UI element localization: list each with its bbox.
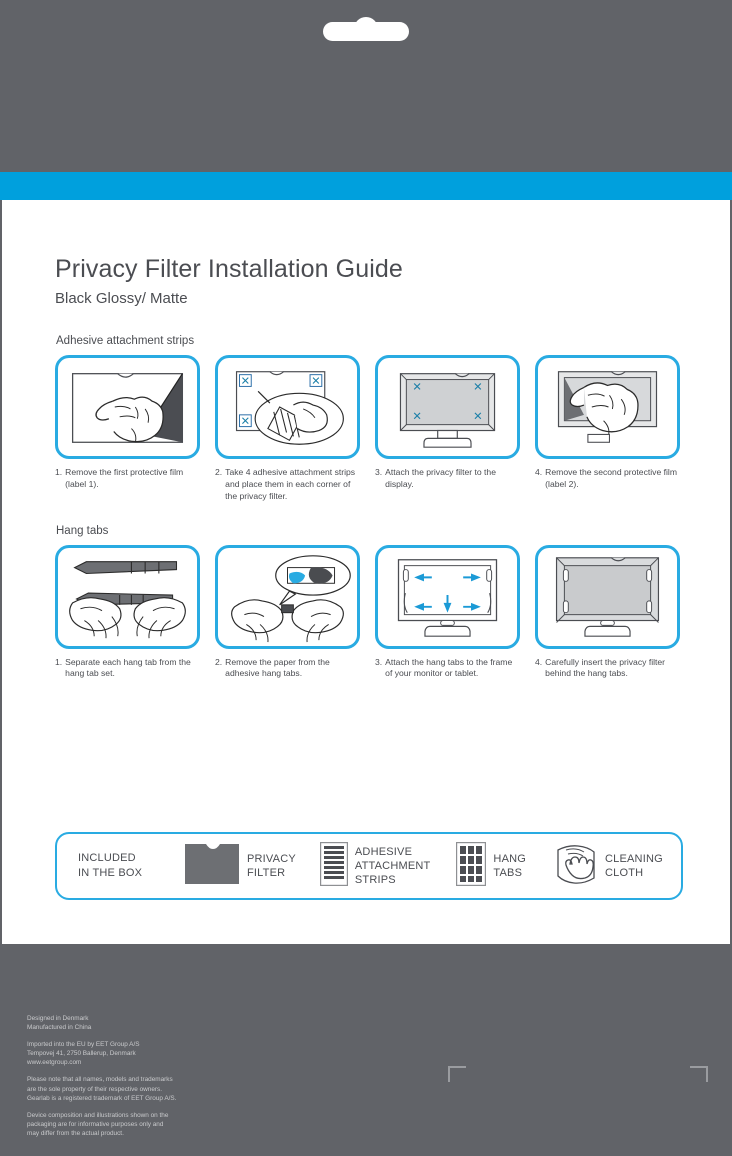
box-item-adhesive-strips: ADHESIVE ATTACHMENT STRIPS (320, 842, 431, 891)
step-caption: 3. Attach the hang tabs to the frame of … (375, 657, 520, 681)
step-cell: 1. Remove the first protective film (lab… (55, 355, 200, 503)
step-text: Attach the hang tabs to the frame of you… (385, 657, 520, 681)
cleaning-cloth-label-line2: CLOTH (605, 866, 663, 880)
crop-mark-left (448, 1066, 466, 1082)
package-card: Privacy Filter Installation Guide Black … (0, 0, 732, 1156)
hang-tabs-label-line1: HANG (493, 852, 526, 866)
cleaning-cloth-icon (554, 842, 598, 891)
disclaimer-notice: Device composition and illustrations sho… (27, 1111, 287, 1138)
privacy-filter-label-line1: PRIVACY (247, 852, 296, 866)
step-text: Carefully insert the privacy filter behi… (545, 657, 680, 681)
step-caption: 2. Remove the paper from the adhesive ha… (215, 657, 360, 681)
hands-separating-hang-tab-icon (55, 545, 200, 649)
adhesive-strips-label-line3: STRIPS (355, 873, 431, 887)
hang-tabs-label-line2: TABS (493, 866, 526, 880)
step-caption: 1. Remove the first protective film (lab… (55, 467, 200, 491)
cleaning-cloth-label-line1: CLEANING (605, 852, 663, 866)
blue-accent-band (0, 172, 732, 200)
trademark-line3: Gearlab is a registered trademark of EET… (27, 1094, 287, 1103)
section-label-adhesive-strips: Adhesive attachment strips (56, 335, 683, 347)
step-cell: 3. Attach the hang tabs to the frame of … (375, 545, 520, 681)
step-caption: 3. Attach the privacy filter to the disp… (375, 467, 520, 491)
hand-peeling-film-icon (55, 355, 200, 459)
origin-line1: Designed in Denmark (27, 1014, 287, 1023)
adhesive-strips-label-line2: ATTACHMENT (355, 859, 431, 873)
step-cell: 4. Remove the second protective film (la… (535, 355, 680, 503)
box-item-hang-tabs: HANG TABS (456, 842, 526, 891)
included-in-the-box-title: INCLUDED IN THE BOX (78, 851, 178, 881)
disclaimer-line1: Device composition and illustrations sho… (27, 1111, 287, 1120)
adhesive-strips-label-line1: ADHESIVE (355, 845, 431, 859)
included-in-the-box-bar: INCLUDED IN THE BOX PRIVACY FILTER (55, 832, 683, 900)
step-cell: 4. Carefully insert the privacy filter b… (535, 545, 680, 681)
page-subtitle: Black Glossy/ Matte (55, 290, 683, 307)
step-number: 1. (55, 657, 62, 681)
step-text: Remove the first protective film (label … (65, 467, 200, 491)
step-cell: 2. Take 4 adhesive attachment strips and… (215, 355, 360, 503)
disclaimer-line3: may differ from the actual product. (27, 1129, 287, 1138)
disclaimer-line2: packaging are for informative purposes o… (27, 1120, 287, 1129)
step-caption: 4. Carefully insert the privacy filter b… (535, 657, 680, 681)
step-text: Attach the privacy filter to the display… (385, 467, 520, 491)
origin-line2: Manufactured in China (27, 1023, 287, 1032)
box-item-privacy-filter: PRIVACY FILTER (184, 843, 296, 890)
step-number: 2. (215, 657, 222, 681)
step-cell: 3. Attach the privacy filter to the disp… (375, 355, 520, 503)
instruction-panel: Privacy Filter Installation Guide Black … (2, 200, 730, 944)
trademark-line1: Please note that all names, models and t… (27, 1075, 287, 1084)
step-number: 3. (375, 657, 382, 681)
privacy-filter-label-line2: FILTER (247, 866, 296, 880)
step-number: 4. (535, 657, 542, 681)
step-number: 4. (535, 467, 542, 491)
instruction-content: Privacy Filter Installation Guide Black … (55, 255, 683, 680)
steps-row-hang-tabs: 1. Separate each hang tab from the hang … (55, 545, 683, 681)
step-cell: 1. Separate each hang tab from the hang … (55, 545, 200, 681)
importer-info: Imported into the EU by EET Group A/S Te… (27, 1040, 287, 1067)
included-title-line1: INCLUDED (78, 851, 178, 866)
box-item-label: ADHESIVE ATTACHMENT STRIPS (355, 845, 431, 888)
step-number: 3. (375, 467, 382, 491)
page-title: Privacy Filter Installation Guide (55, 255, 683, 284)
steps-row-adhesive: 1. Remove the first protective film (lab… (55, 355, 683, 503)
trademark-notice: Please note that all names, models and t… (27, 1075, 287, 1102)
step-number: 2. (215, 467, 222, 503)
step-text: Separate each hang tab from the hang tab… (65, 657, 200, 681)
box-item-cleaning-cloth: CLEANING CLOTH (554, 842, 663, 891)
crop-mark-right (690, 1066, 708, 1082)
footer-fine-print: Designed in Denmark Manufactured in Chin… (27, 1014, 287, 1138)
monitor-hang-tab-arrows-icon (375, 545, 520, 649)
step-text: Take 4 adhesive attachment strips and pl… (225, 467, 360, 503)
importer-website: www.eetgroup.com (27, 1058, 287, 1067)
hang-tabs-icon (456, 842, 486, 891)
importer-line1: Imported into the EU by EET Group A/S (27, 1040, 287, 1049)
strips-in-corners-callout-icon (215, 355, 360, 459)
monitor-attach-filter-icon (375, 355, 520, 459)
step-number: 1. (55, 467, 62, 491)
privacy-filter-icon (184, 843, 240, 890)
hand-peeling-second-film-icon (535, 355, 680, 459)
step-text: Remove the paper from the adhesive hang … (225, 657, 360, 681)
section-label-hang-tabs: Hang tabs (56, 525, 683, 537)
box-item-label: CLEANING CLOTH (605, 852, 663, 881)
included-title-line2: IN THE BOX (78, 866, 178, 881)
step-caption: 2. Take 4 adhesive attachment strips and… (215, 467, 360, 503)
step-caption: 4. Remove the second protective film (la… (535, 467, 680, 491)
trademark-line2: are the sole property of their respectiv… (27, 1085, 287, 1094)
importer-line2: Tempovej 41, 2750 Ballerup, Denmark (27, 1049, 287, 1058)
hands-peeling-paper-callout-icon (215, 545, 360, 649)
step-caption: 1. Separate each hang tab from the hang … (55, 657, 200, 681)
box-item-label: PRIVACY FILTER (247, 852, 296, 881)
step-cell: 2. Remove the paper from the adhesive ha… (215, 545, 360, 681)
hang-hole-bar (323, 22, 409, 41)
adhesive-strips-icon (320, 842, 348, 891)
step-text: Remove the second protective film (label… (545, 467, 680, 491)
origin-info: Designed in Denmark Manufactured in Chin… (27, 1014, 287, 1032)
monitor-filter-inserted-icon (535, 545, 680, 649)
euro-slot-hang-hole (323, 17, 409, 41)
box-item-label: HANG TABS (493, 852, 526, 881)
